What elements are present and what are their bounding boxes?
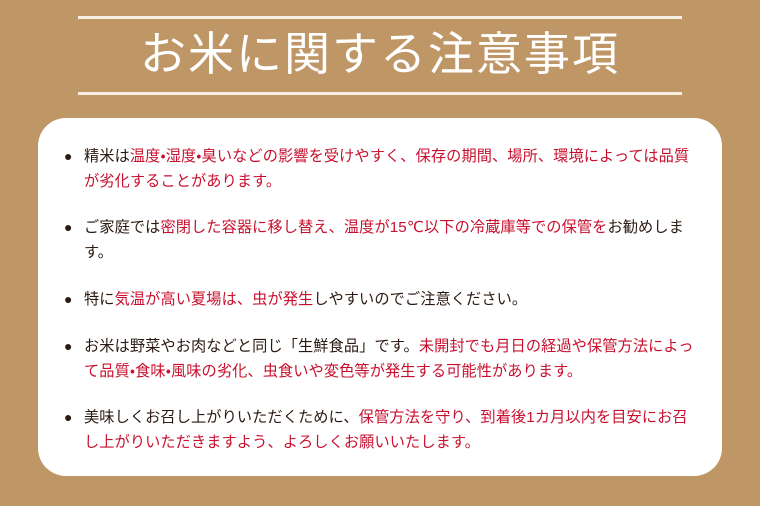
- title-rule-bottom: [78, 92, 682, 95]
- notice-list: ●精米は温度・湿度・臭いなどの影響を受けやすく、保存の期間、場所、環境によっては…: [64, 144, 700, 455]
- notice-item-summer-insects: ●特に気温が高い夏場は、虫が発生しやすいのでご注意ください。: [64, 287, 700, 312]
- notice-text-segment: 密閉した容器に移し替え、温度が15℃以下の冷蔵庫等での保管を: [160, 219, 607, 236]
- page-title: お米に関する注意事項: [0, 24, 760, 86]
- notice-text-segment: 美味しくお召し上がりいただくために、: [84, 409, 359, 426]
- bullet-icon: ●: [64, 334, 73, 359]
- bullet-icon: ●: [64, 405, 73, 430]
- bullet-icon: ●: [64, 287, 73, 312]
- header: お米に関する注意事項: [0, 0, 760, 104]
- bullet-icon: ●: [64, 144, 73, 169]
- notice-item-storage-quality: ●精米は温度・湿度・臭いなどの影響を受けやすく、保存の期間、場所、環境によっては…: [64, 144, 700, 194]
- notice-item-home-container: ●ご家庭では密閉した容器に移し替え、温度が15℃以下の冷蔵庫等での保管をお勧めし…: [64, 215, 700, 265]
- bullet-icon: ●: [64, 215, 73, 240]
- notice-item-fresh-food: ●お米は野菜やお肉などと同じ「生鮮食品」です。未開封でも月日の経過や保管方法によ…: [64, 334, 700, 384]
- notice-text-segment: 精米は: [84, 148, 130, 165]
- notice-text-segment: 気温が高い夏場は、虫が発生: [115, 291, 314, 308]
- notice-text-segment: ご家庭では: [84, 219, 160, 236]
- rice-notice-graphic: お米に関する注意事項 ●精米は温度・湿度・臭いなどの影響を受けやすく、保存の期間…: [0, 0, 760, 506]
- notice-text-segment: 温度・湿度・臭いなどの影響を受けやすく、保存の期間、場所、環境によっては品質が劣…: [84, 148, 689, 190]
- notice-item-consume-within-month: ●美味しくお召し上がりいただくために、保管方法を守り、到着後1カ月以内を目安にお…: [64, 405, 700, 455]
- notice-text-segment: お米は野菜やお肉などと同じ「生鮮食品」です。: [84, 338, 419, 355]
- notice-text-segment: しやすいのでご注意ください。: [313, 291, 527, 308]
- notice-text-segment: 特に: [84, 291, 115, 308]
- title-rule-top: [78, 16, 682, 19]
- notice-card: ●精米は温度・湿度・臭いなどの影響を受けやすく、保存の期間、場所、環境によっては…: [38, 118, 722, 476]
